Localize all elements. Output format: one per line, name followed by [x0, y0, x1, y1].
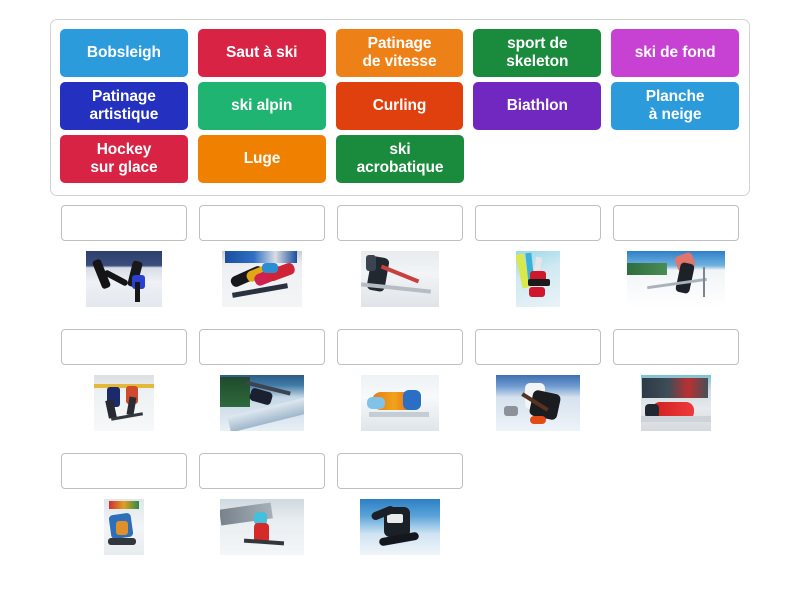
bobsleigh-team-photo — [641, 375, 711, 431]
photo-detail — [387, 514, 403, 523]
answer-cell — [198, 453, 326, 557]
photo-detail — [504, 406, 518, 416]
dropzone[interactable] — [199, 453, 325, 489]
thumbnail-wrapper — [198, 499, 326, 557]
draggable-tile[interactable]: Biathlon — [473, 82, 601, 130]
snowboarding-photo — [360, 499, 440, 555]
dropzone[interactable] — [475, 205, 601, 241]
answer-cell — [612, 205, 740, 309]
dropzone[interactable] — [199, 205, 325, 241]
thumbnail-wrapper — [336, 251, 464, 309]
photo-detail — [135, 282, 140, 302]
thumbnail-wrapper — [60, 375, 188, 433]
answer-cell — [60, 205, 188, 309]
photo-detail — [367, 397, 385, 409]
answer-cell — [474, 329, 602, 433]
answer-cell — [60, 329, 188, 433]
photo-detail — [94, 384, 154, 388]
cross-country-skiing-photo — [627, 251, 725, 307]
photo-detail — [116, 521, 128, 535]
photo-detail — [109, 501, 139, 509]
draggable-tile[interactable]: Patinagede vitesse — [336, 29, 464, 77]
thumbnail-wrapper — [612, 375, 740, 433]
answer-cell — [198, 205, 326, 309]
alpine-skiing-photo — [220, 499, 304, 555]
dropzone[interactable] — [613, 205, 739, 241]
draggable-tile[interactable]: sport deskeleton — [473, 29, 601, 77]
thumbnail-wrapper — [612, 251, 740, 309]
photo-detail — [703, 267, 705, 297]
curling-sweeper-photo — [496, 375, 580, 431]
thumbnail-wrapper — [198, 251, 326, 309]
dropzone[interactable] — [337, 453, 463, 489]
draggable-tile[interactable]: Saut à ski — [198, 29, 326, 77]
photo-detail — [262, 263, 278, 273]
thumbnail-wrapper — [336, 499, 464, 557]
photo-detail — [403, 390, 421, 410]
photo-detail — [530, 416, 546, 424]
tile-row: Hockeysur glaceLugeskiacrobatique — [51, 135, 749, 183]
photo-detail — [529, 287, 545, 297]
tile-row: Patinageartistiqueski alpinCurlingBiathl… — [51, 82, 749, 130]
word-bank-container: BobsleighSaut à skiPatinagede vitessespo… — [50, 19, 750, 196]
tile-row: BobsleighSaut à skiPatinagede vitessespo… — [51, 29, 749, 77]
draggable-tile[interactable]: ski alpin — [198, 82, 326, 130]
dropzone[interactable] — [199, 329, 325, 365]
photo-detail — [108, 538, 136, 545]
answer-cell — [336, 329, 464, 433]
photo-detail — [641, 416, 711, 422]
dropzone[interactable] — [61, 453, 187, 489]
thumbnail-wrapper — [474, 375, 602, 433]
dropzone[interactable] — [61, 205, 187, 241]
thumbnail-wrapper — [198, 375, 326, 433]
photo-detail — [225, 251, 297, 263]
aerial-freestyle-skiing-photo — [516, 251, 560, 307]
answer-row — [0, 329, 800, 433]
photo-detail — [627, 263, 667, 275]
draggable-tile[interactable]: Curling — [336, 82, 464, 130]
ice-hockey-players-photo — [94, 375, 154, 431]
photo-detail — [366, 255, 376, 271]
skeleton-slider-photo — [104, 499, 144, 555]
draggable-tile[interactable]: Patinageartistique — [60, 82, 188, 130]
luge-athlete-photo — [361, 375, 439, 431]
dropzone[interactable] — [337, 329, 463, 365]
thumbnail-wrapper — [60, 499, 188, 557]
draggable-tile[interactable]: Plancheà neige — [611, 82, 739, 130]
answer-row — [0, 205, 800, 309]
answer-cell — [60, 453, 188, 557]
draggable-tile[interactable]: Bobsleigh — [60, 29, 188, 77]
short-track-speed-skating-photo — [222, 251, 302, 307]
answer-cell — [198, 329, 326, 433]
figure-skating-pair-photo — [86, 251, 162, 307]
answer-cell — [336, 453, 464, 557]
answer-cell — [612, 329, 740, 433]
photo-detail — [243, 539, 283, 546]
photo-detail — [528, 279, 550, 286]
ski-jumping-photo — [220, 375, 304, 431]
photo-detail — [642, 378, 708, 398]
dropzone[interactable] — [475, 329, 601, 365]
dropzone[interactable] — [613, 329, 739, 365]
draggable-tile[interactable]: Hockeysur glace — [60, 135, 188, 183]
dropzone[interactable] — [337, 205, 463, 241]
draggable-tile[interactable]: Luge — [198, 135, 326, 183]
photo-detail — [369, 412, 429, 417]
thumbnail-wrapper — [336, 375, 464, 433]
biathlon-skier-photo — [361, 251, 439, 307]
answer-area — [0, 205, 800, 577]
thumbnail-wrapper — [474, 251, 602, 309]
answer-row — [0, 453, 800, 557]
dropzone[interactable] — [61, 329, 187, 365]
answer-cell — [474, 205, 602, 309]
answer-cell — [336, 205, 464, 309]
thumbnail-wrapper — [60, 251, 188, 309]
draggable-tile[interactable]: ski de fond — [611, 29, 739, 77]
draggable-tile[interactable]: skiacrobatique — [336, 135, 464, 183]
